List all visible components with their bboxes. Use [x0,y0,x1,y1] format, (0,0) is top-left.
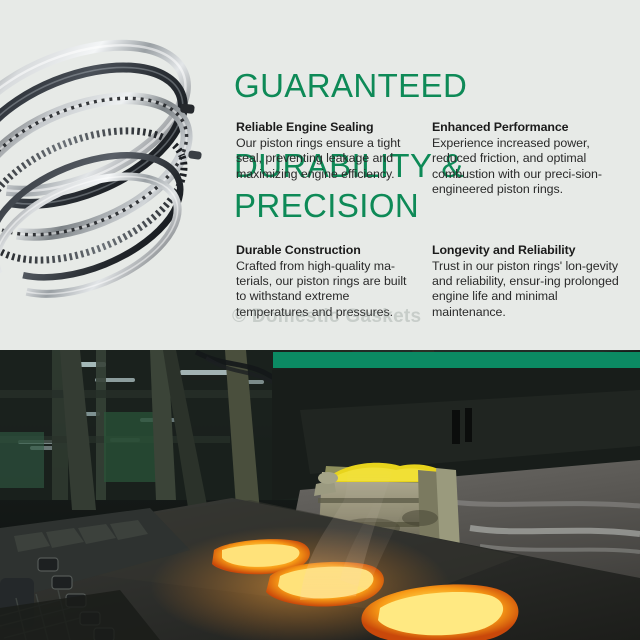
feature-durable-construction: Durable Construction Crafted from high-q… [236,243,432,321]
headline-line-1: GUARANTEED [234,66,634,106]
feature-title: Longevity and Reliability [432,243,626,258]
feature-title: Durable Construction [236,243,418,258]
product-infographic-poster: GUARANTEED DURABILITY & PRECISION Reliab… [0,0,640,640]
feature-title: Reliable Engine Sealing [236,120,418,135]
feature-title: Enhanced Performance [432,120,626,135]
feature-reliable-engine-sealing: Reliable Engine Sealing Our piston rings… [236,120,432,198]
feature-body: Crafted from high-quality ma-terials, ou… [236,259,418,321]
feature-grid: Reliable Engine Sealing Our piston rings… [236,120,628,320]
feature-body: Our piston rings ensure a tight seal, pr… [236,136,418,182]
piston-rings-image [0,2,232,322]
feature-longevity-and-reliability: Longevity and Reliability Trust in our p… [432,243,628,321]
feature-body: Experience increased power, reduced fric… [432,136,626,198]
feature-row-1: Reliable Engine Sealing Our piston rings… [236,120,628,198]
top-section: GUARANTEED DURABILITY & PRECISION Reliab… [0,0,640,350]
feature-enhanced-performance: Enhanced Performance Experience increase… [432,120,628,198]
feature-body: Trust in our piston rings' lon-gevity an… [432,259,626,321]
green-accent-bar [273,352,640,368]
factory-photo [0,350,640,640]
feature-row-2: Durable Construction Crafted from high-q… [236,243,628,321]
